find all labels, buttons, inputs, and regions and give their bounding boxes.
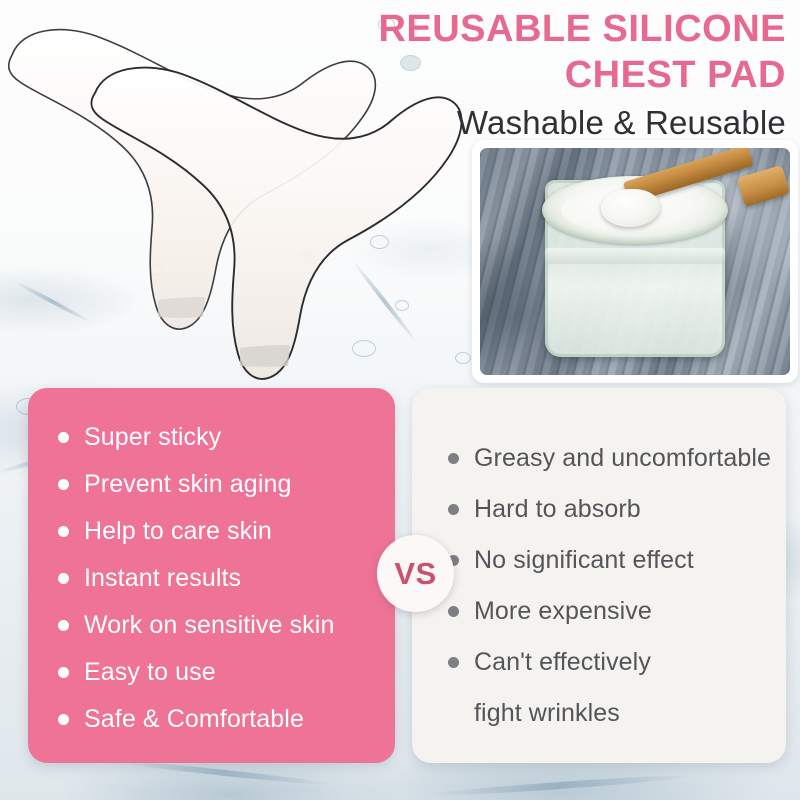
cons-list-item: Hard to absorb [412, 494, 786, 545]
product-advertisement: REUSABLE SILICONE CHEST PAD Washable & R… [0, 0, 800, 800]
bullet-dot-icon [58, 714, 69, 725]
vs-label: VS [394, 556, 436, 592]
title-line-1: REUSABLE SILICONE [356, 6, 786, 52]
cons-list-item: Can't effectively [412, 647, 786, 698]
feature-text: Hard to absorb [474, 494, 641, 525]
feature-text: Easy to use [84, 657, 216, 688]
cons-list-item: No significant effect [412, 545, 786, 596]
cons-list: Greasy and uncomfortableHard to absorbNo… [412, 443, 786, 749]
feature-text: Help to care skin [84, 516, 272, 547]
pros-list-item: Super sticky [28, 422, 395, 469]
cream-jar-photo [480, 148, 790, 375]
bullet-dot-icon [58, 526, 69, 537]
bullet-dot-icon [448, 606, 459, 617]
feature-text: No significant effect [474, 545, 694, 576]
bullet-dot-icon [448, 504, 459, 515]
pros-list-item: Work on sensitive skin [28, 610, 395, 657]
feature-text: Greasy and uncomfortable [474, 443, 771, 474]
feature-text: Work on sensitive skin [84, 610, 334, 641]
feature-text: Instant results [84, 563, 241, 594]
bullet-dot-icon [58, 667, 69, 678]
vs-badge: VS [377, 535, 454, 612]
pros-list: Super stickyPrevent skin agingHelp to ca… [28, 422, 395, 751]
bullet-dot-icon [448, 453, 459, 464]
feature-text: Super sticky [84, 422, 221, 453]
headline-block: REUSABLE SILICONE CHEST PAD Washable & R… [356, 6, 786, 142]
product-photo-frame [472, 140, 798, 383]
bullet-dot-icon [448, 657, 459, 668]
pad-front-tip-shadow [240, 345, 290, 367]
cons-panel: Greasy and uncomfortableHard to absorbNo… [412, 388, 786, 763]
bullet-dot-icon [58, 573, 69, 584]
feature-text: fight wrinkles [474, 698, 620, 729]
jar-band [545, 248, 725, 264]
pros-list-item: Easy to use [28, 657, 395, 704]
pros-list-item: Instant results [28, 563, 395, 610]
subtitle: Washable & Reusable [356, 104, 786, 142]
bullet-dot-icon [58, 620, 69, 631]
cons-list-item: Greasy and uncomfortable [412, 443, 786, 494]
cons-list-item: fight wrinkles [412, 698, 786, 749]
cons-list-item: More expensive [412, 596, 786, 647]
feature-text: Prevent skin aging [84, 469, 291, 500]
feature-text: More expensive [474, 596, 652, 627]
bullet-dot-icon [58, 479, 69, 490]
feature-text: Can't effectively [474, 647, 651, 678]
pros-panel: Super stickyPrevent skin agingHelp to ca… [28, 388, 395, 763]
bullet-dot-icon [58, 432, 69, 443]
pad-back-tip-shadow [158, 297, 205, 318]
title-line-2: CHEST PAD [356, 52, 786, 98]
pros-list-item: Prevent skin aging [28, 469, 395, 516]
feature-text: Safe & Comfortable [84, 704, 304, 735]
pros-list-item: Help to care skin [28, 516, 395, 563]
pros-list-item: Safe & Comfortable [28, 704, 395, 751]
